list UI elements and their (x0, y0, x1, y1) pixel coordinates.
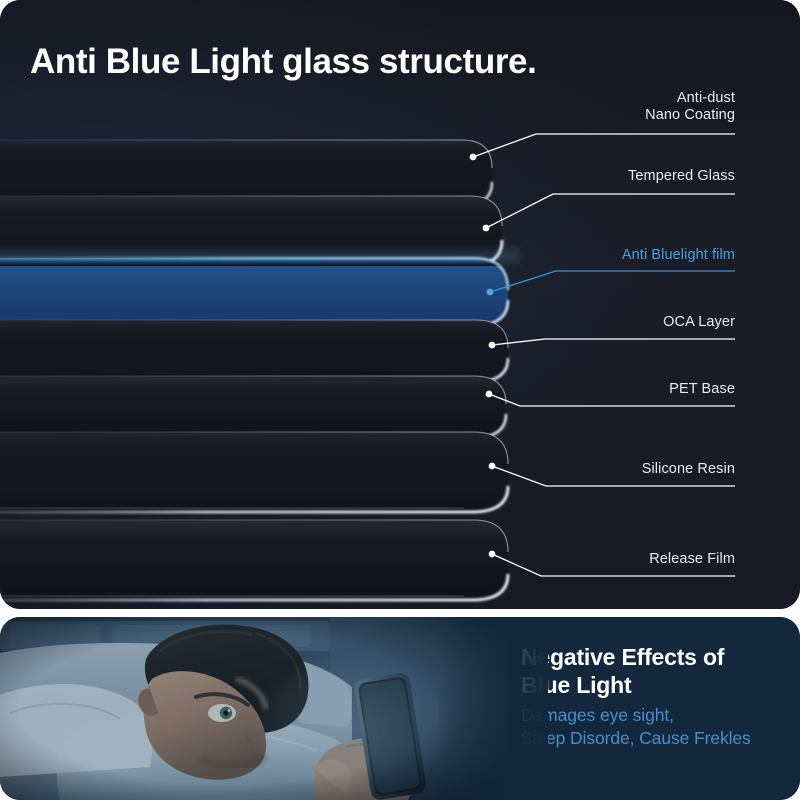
layer-label-tempered-glass: Tempered Glass (628, 168, 735, 185)
product-infographic: Anti Blue Light glass structure. (0, 0, 800, 800)
layer-label-anti-dust-nano-coating: Anti-dust Nano Coating (645, 90, 735, 124)
negative-effects-panel: Negative Effects of Blue Light Damages e… (0, 617, 800, 800)
glass-structure-panel: Anti Blue Light glass structure. (0, 0, 800, 609)
callout-group: Anti-dust Nano Coating Tempered Glass An… (0, 0, 800, 609)
layer-label-pet-base: PET Base (669, 381, 735, 398)
leader-line-tempered-glass (483, 194, 735, 231)
bedroom-phone-photo (0, 617, 508, 800)
effects-text-block: Negative Effects of Blue Light Damages e… (508, 617, 800, 800)
effects-title: Negative Effects of Blue Light (521, 643, 800, 699)
leader-line-oca-layer (489, 339, 735, 348)
leader-line-anti-bluelight-film (487, 271, 735, 295)
layer-label-silicone-resin: Silicone Resin (642, 461, 735, 478)
effects-subtitle: Damages eye sight, Sleep Disorde, Cause … (521, 704, 800, 750)
layer-label-release-film: Release Film (649, 551, 735, 568)
leader-line-anti-dust-nano-coating (470, 134, 735, 160)
layer-label-anti-bluelight-film: Anti Bluelight film (622, 247, 735, 264)
layer-label-oca-layer: OCA Layer (663, 314, 735, 331)
